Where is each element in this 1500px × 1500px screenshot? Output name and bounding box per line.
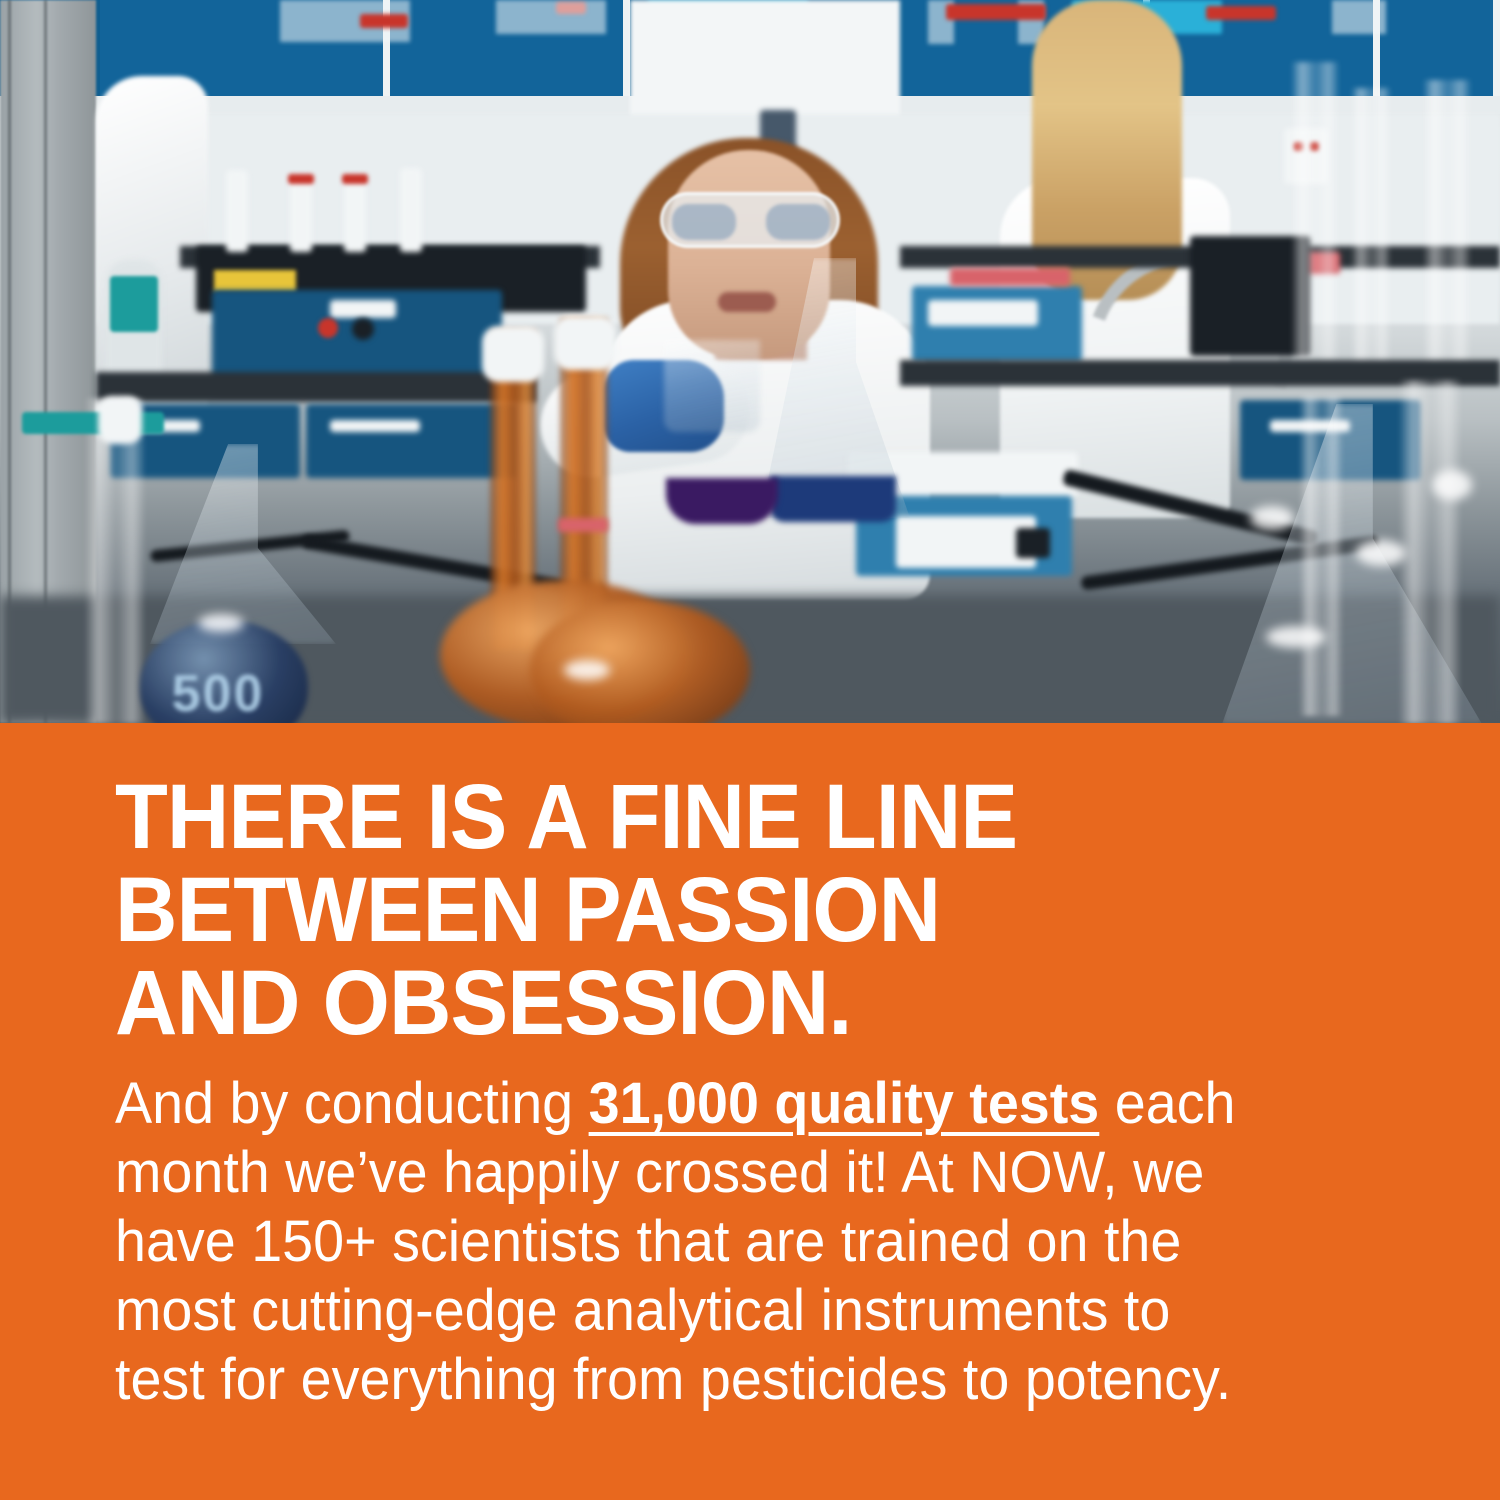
vial-cap [288, 174, 314, 184]
cylinder-stopper [98, 396, 142, 444]
stat-highlight: 31,000 quality tests [589, 1071, 1100, 1136]
specular-highlight [1266, 626, 1326, 648]
instrument-face [896, 516, 1036, 568]
flask-volume-label: 500 [152, 664, 284, 723]
body-text: And by conducting [115, 1071, 589, 1136]
shelf-label-red [946, 4, 1046, 20]
specular-highlight [1432, 470, 1472, 500]
flask-graduation-mark [558, 518, 608, 532]
body-paragraph: And by conducting 31,000 quality tests e… [115, 1069, 1363, 1414]
body-line-4: most cutting-edge analytical instruments… [115, 1276, 1363, 1345]
shelf-jar [1332, 0, 1386, 34]
bench-tray-pink [950, 268, 1070, 286]
body-line-3: have 150+ scientists that are trained on… [115, 1207, 1363, 1276]
vial [290, 176, 312, 252]
specular-highlight [1250, 506, 1294, 530]
analyzer-knob [352, 318, 374, 340]
body-line-2: month we’ve happily crossed it! At NOW, … [115, 1138, 1363, 1207]
flask-stopper [482, 326, 544, 382]
body-line-1: And by conducting 31,000 quality tests e… [115, 1069, 1363, 1138]
glass-cylinder [1424, 80, 1470, 370]
specular-highlight [198, 614, 244, 632]
promo-poster: 500 THERE IS A FINE LINE BETWEEN PASSION… [0, 0, 1500, 1500]
instrument-screen [1016, 528, 1050, 558]
glass-cylinder [1352, 88, 1390, 368]
lab-photo: 500 [0, 0, 1500, 723]
instrument-panel [928, 300, 1038, 326]
shelf-box [496, 0, 606, 34]
glass-cylinder-foreground [1400, 380, 1460, 723]
goggle-lens-left [672, 204, 736, 240]
shelf-label-red [1206, 6, 1276, 20]
flask-stopper [554, 316, 616, 370]
orange-text-band: THERE IS A FINE LINE BETWEEN PASSION AND… [0, 723, 1500, 1500]
headline-line-1: THERE IS A FINE LINE [115, 771, 1328, 864]
bench-drawer [306, 404, 516, 478]
shelf-label-red [360, 14, 408, 28]
beaker [664, 340, 760, 432]
glass-cylinder-foreground [1300, 396, 1342, 716]
instrument-label-yellow [214, 270, 296, 292]
glass-cylinder [1292, 62, 1338, 362]
body-line-5: test for everything from pesticides to p… [115, 1345, 1363, 1414]
drawer-handle [330, 420, 420, 432]
graduated-cylinder [86, 398, 144, 723]
bench-surface [96, 372, 536, 402]
goggle-lens-right [766, 204, 830, 240]
body-text: each [1099, 1071, 1235, 1136]
beaker-liquid-purple [666, 478, 778, 524]
vial [344, 176, 366, 252]
vial [226, 170, 248, 252]
vial [400, 168, 422, 252]
flask-liquid-blue [770, 476, 896, 522]
vial-cap [342, 174, 368, 184]
scientist-center-mouth [718, 292, 776, 312]
analyzer-indicator [318, 318, 338, 338]
headline-line-3: AND OBSESSION. [115, 957, 1328, 1050]
page-title: THERE IS A FINE LINE BETWEEN PASSION AND… [115, 771, 1328, 1050]
glove-teal [110, 276, 158, 332]
specular-highlight [1356, 540, 1406, 566]
headline-line-2: BETWEEN PASSION [115, 864, 1328, 957]
analyzer-display [330, 300, 396, 318]
specular-highlight [564, 660, 610, 680]
